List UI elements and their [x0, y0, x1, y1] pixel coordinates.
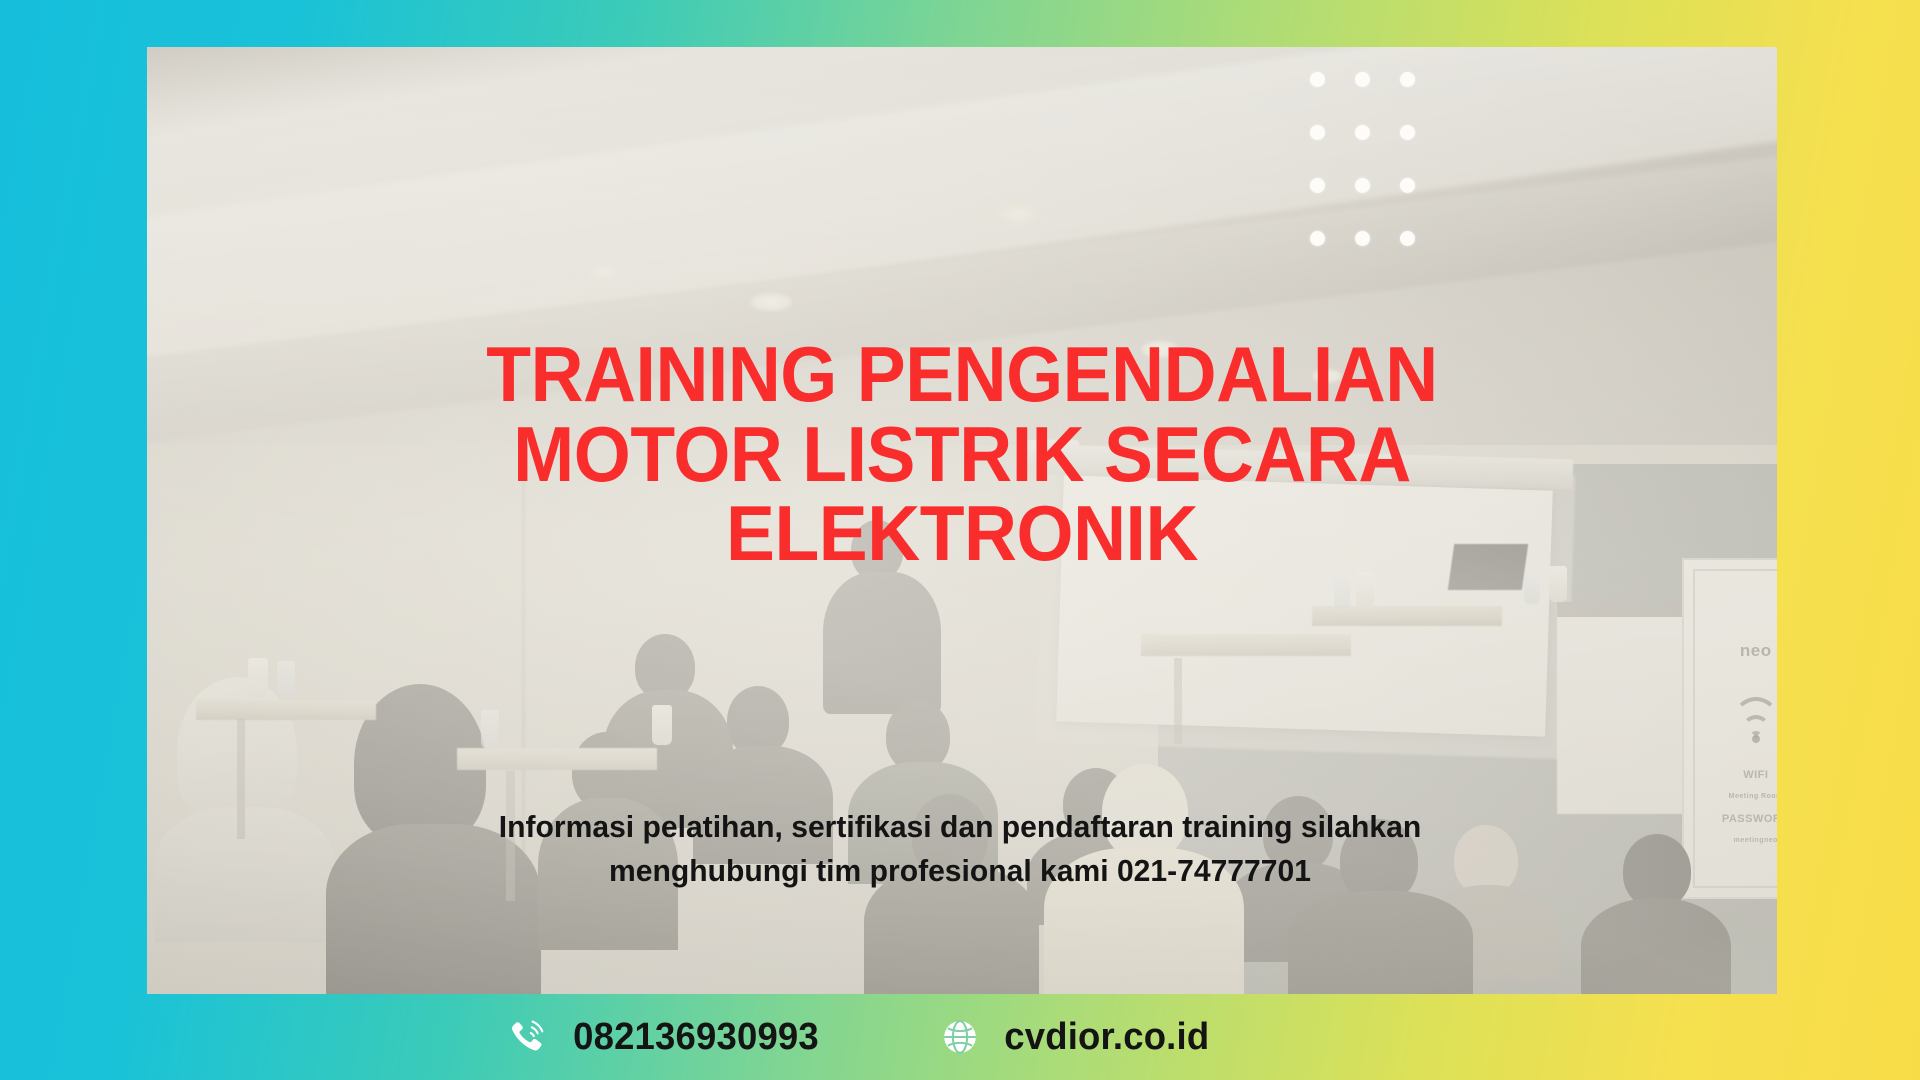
subtitle-line-2: menghubungi tim profesional kami 021-747… [320, 849, 1600, 893]
poster-headline: TRAINING PENGENDALIAN MOTOR LISTRIK SECA… [196, 335, 1728, 574]
phone-ringing-icon [508, 1017, 548, 1057]
table-leg [237, 719, 245, 839]
decorative-dot [1355, 125, 1370, 140]
decorative-dot [1310, 72, 1325, 87]
decorative-dot [1310, 125, 1325, 140]
decorative-dot [1355, 178, 1370, 193]
headline-line-3: ELEKTRONIK [196, 494, 1728, 574]
decorative-dot [1400, 231, 1415, 246]
standee-brand-label: neo [1684, 641, 1777, 661]
table [1141, 634, 1351, 656]
downlight [995, 203, 1041, 225]
downlight [587, 265, 621, 280]
wifi-icon [1729, 709, 1777, 743]
contact-phone[interactable]: 082136930993 [508, 1016, 824, 1059]
poster-canvas: neo WIFI Meeting Room PASSWORD meetingne… [0, 0, 1920, 1080]
decorative-dot [1400, 125, 1415, 140]
standee-room-label: Meeting Room [1684, 793, 1777, 800]
paper-cup [248, 658, 268, 698]
website-url: cvdior.co.id [1004, 1016, 1209, 1059]
decorative-dot [1400, 178, 1415, 193]
headline-line-1: TRAINING PENGENDALIAN [196, 335, 1728, 415]
decorative-dot [1400, 72, 1415, 87]
table [196, 700, 376, 720]
poster-subtitle: Informasi pelatihan, sertifikasi dan pen… [320, 805, 1600, 893]
phone-number: 082136930993 [573, 1016, 819, 1059]
drink-glass [1334, 575, 1350, 609]
dot-grid-decoration [1310, 72, 1445, 284]
contact-bar: 082136930993 cvdior.co.id [0, 994, 1920, 1080]
attendee [1581, 834, 1731, 994]
globe-icon [940, 1017, 980, 1057]
presenter-body [823, 572, 941, 714]
decorative-dot [1355, 72, 1370, 87]
contact-website[interactable]: cvdior.co.id [940, 1016, 1214, 1059]
paper-cup [1356, 572, 1374, 608]
decorative-dot [1310, 231, 1325, 246]
table-leg [1174, 658, 1182, 744]
decorative-dot [1310, 178, 1325, 193]
drink-glass [481, 710, 499, 748]
standee-password-label: PASSWORD [1684, 813, 1777, 825]
paper-cup [652, 705, 672, 745]
standee-wifi-label: WIFI [1684, 769, 1777, 781]
drink-glass [277, 661, 295, 699]
subtitle-line-1: Informasi pelatihan, sertifikasi dan pen… [320, 805, 1600, 849]
table [457, 748, 657, 770]
drink-glass [1524, 570, 1540, 604]
headline-line-2: MOTOR LISTRIK SECARA [196, 415, 1728, 495]
decorative-dot [1355, 231, 1370, 246]
